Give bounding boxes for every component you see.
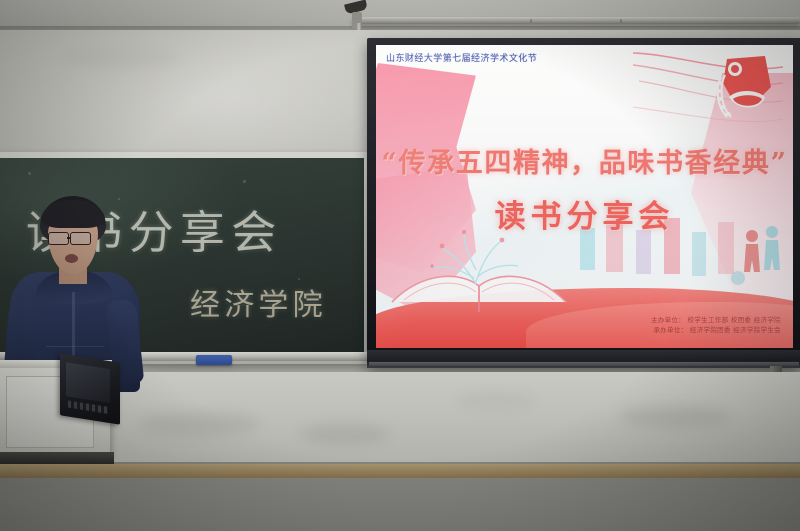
presenter-mouth bbox=[65, 254, 78, 263]
slide-organizer-line-2: 承办单位： 经济学院团委 经济学院学生会 bbox=[653, 324, 781, 334]
eyeglasses-icon bbox=[48, 232, 69, 245]
ceiling-projector-rail bbox=[352, 17, 800, 24]
rail-tick bbox=[620, 19, 622, 23]
projection-screen: 山东财经大学第七届经济学术文化节 “传承五四精神，品味书香经典” 读书分享会 主… bbox=[367, 38, 800, 368]
open-book-illustration-icon bbox=[384, 224, 574, 314]
audience bbox=[0, 380, 800, 531]
university-emblem-icon bbox=[711, 53, 781, 125]
eyeglasses-icon bbox=[70, 232, 91, 245]
projection-screen-surface: 山东财经大学第七届经济学术文化节 “传承五四精神，品味书香经典” 读书分享会 主… bbox=[376, 45, 793, 348]
screen-bezel-lip bbox=[369, 362, 799, 366]
eyeglasses-bridge bbox=[67, 237, 71, 239]
slide-header-text: 山东财经大学第七届经济学术文化节 bbox=[386, 51, 537, 64]
slide-title: “传承五四精神，品味书香经典” bbox=[376, 141, 793, 180]
slide-organizer-line-1: 主办单位： 校学生工作部 校团委 经济学院 bbox=[651, 314, 781, 324]
slide-subtitle: 读书分享会 bbox=[376, 191, 793, 236]
presentation-slide: 山东财经大学第七届经济学术文化节 “传承五四精神，品味书香经典” 读书分享会 主… bbox=[376, 45, 793, 348]
blackboard-eraser bbox=[196, 355, 232, 365]
rail-tick bbox=[530, 19, 532, 23]
desk-row bbox=[0, 464, 800, 478]
classroom-photo: 读书分享会 经济学院 bbox=[0, 0, 800, 531]
